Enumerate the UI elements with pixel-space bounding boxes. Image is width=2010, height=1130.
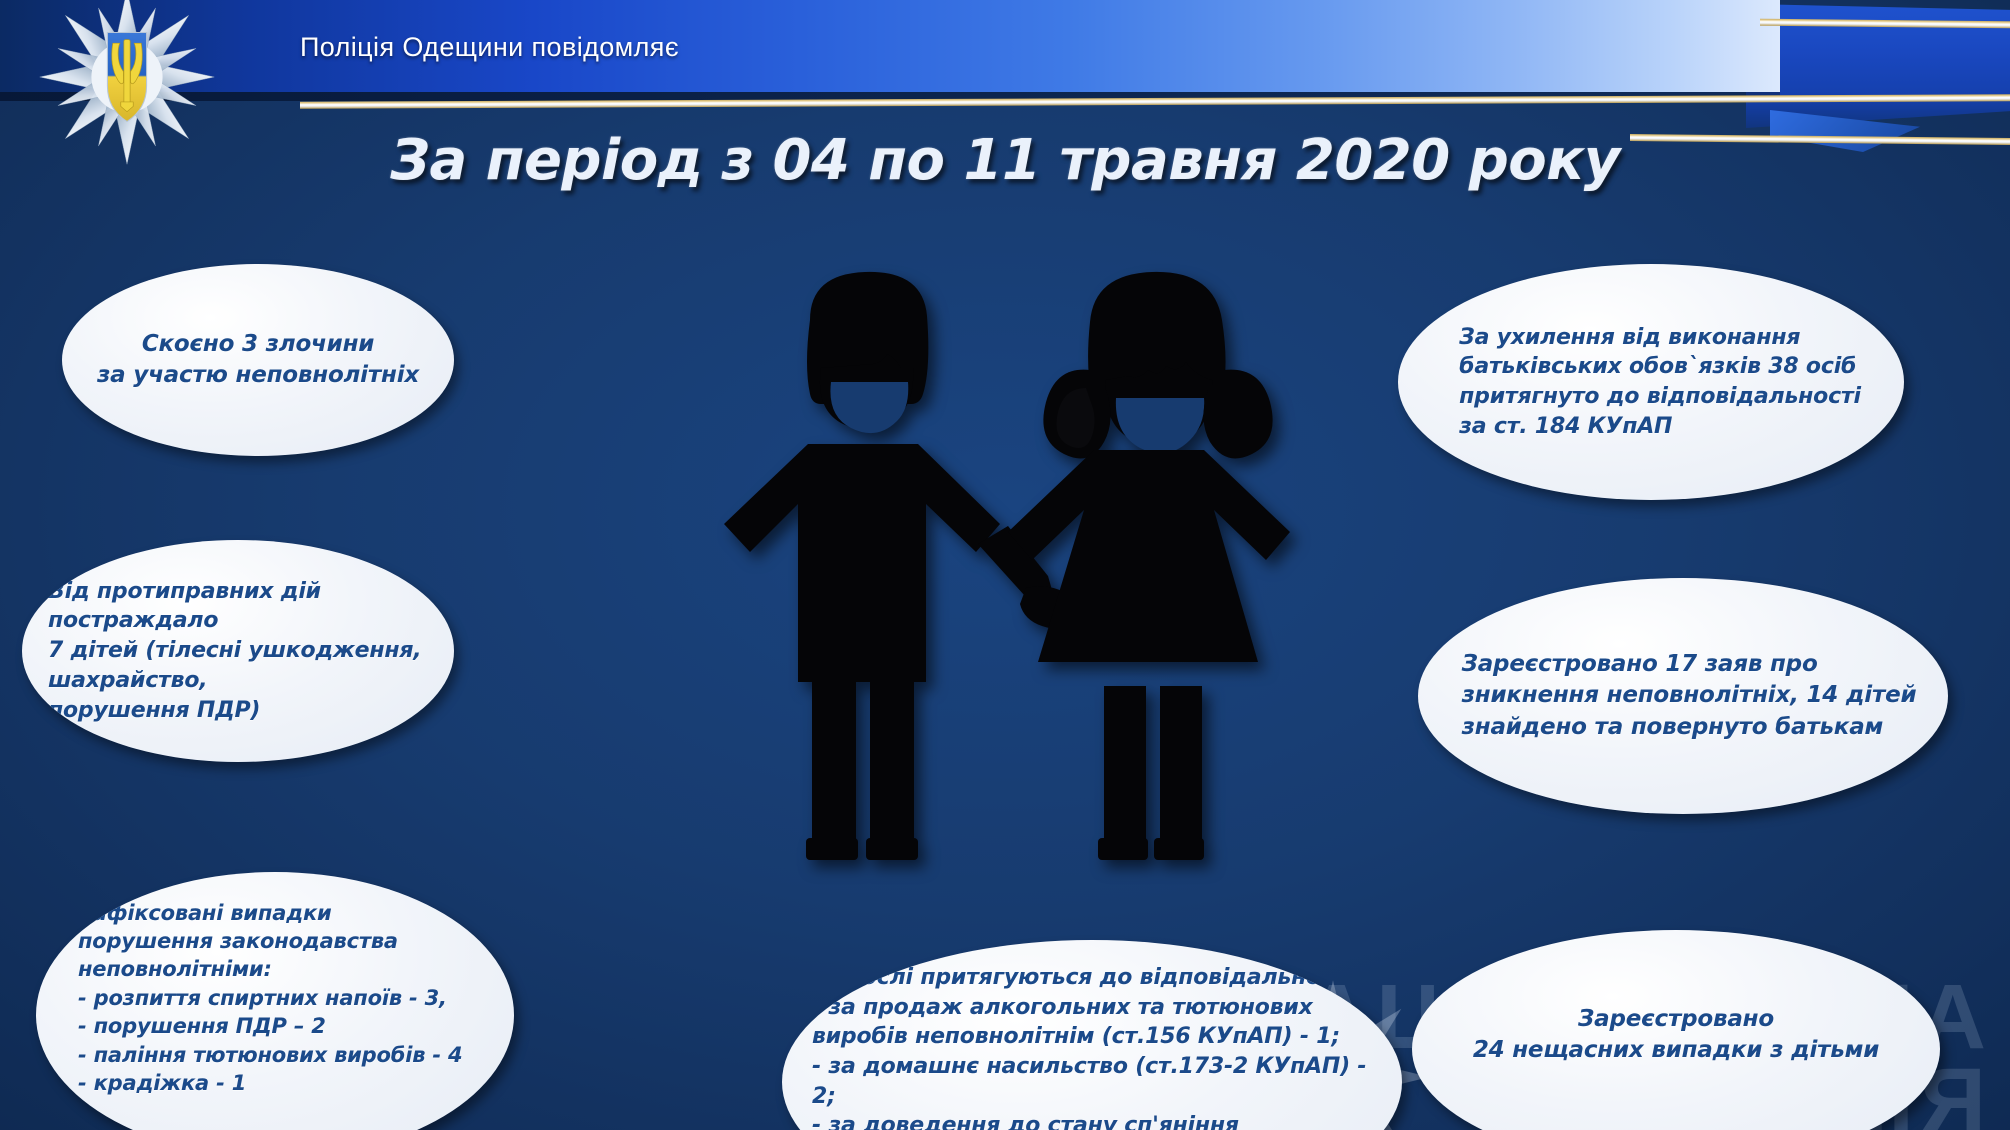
bubble-missing: Зареєстровано 17 заяв про зникнення непо… [1418,578,1948,814]
bubble-crimes: Скоєно 3 злочини за участю неповнолітніх [62,264,454,456]
bubble-adults-text: Дорослі притягуються до відповідальності… [782,963,1402,1130]
infographic-poster: НАЦІОНАЛЬНА ПОЛІЦІЯ [0,0,2010,1130]
bubble-parents: За ухилення від виконання батьківських о… [1398,264,1904,500]
header-banner [0,0,1780,92]
page-title: За період з 04 по 11 травня 2020 року [0,128,2010,193]
bubble-offences-text: Зафіксовані випадки порушення законодавс… [36,899,514,1130]
bubble-victims-text: Від протиправних дій постраждало 7 дітей… [22,577,454,725]
bubble-missing-text: Зареєстровано 17 заяв про зникнення непо… [1428,649,1939,742]
bubble-victims: Від протиправних дій постраждало 7 дітей… [22,540,454,762]
bubble-parents-text: За ухилення від виконання батьківських о… [1419,323,1883,442]
bubble-offences: Зафіксовані випадки порушення законодавс… [36,872,514,1130]
bubble-accidents: Зареєстровано 24 нещасних випадки з діть… [1412,930,1940,1130]
bubble-crimes-text: Скоєно 3 злочини за участю неповнолітніх [97,329,419,391]
boy-and-girl-holding-hands-silhouette-icon [690,258,1380,898]
header-subtitle: Поліція Одещини повідомляє [300,32,679,63]
bubble-adults: Дорослі притягуються до відповідальності… [782,940,1402,1130]
bubble-accidents-text: Зареєстровано 24 нещасних випадки з діть… [1473,1004,1879,1094]
